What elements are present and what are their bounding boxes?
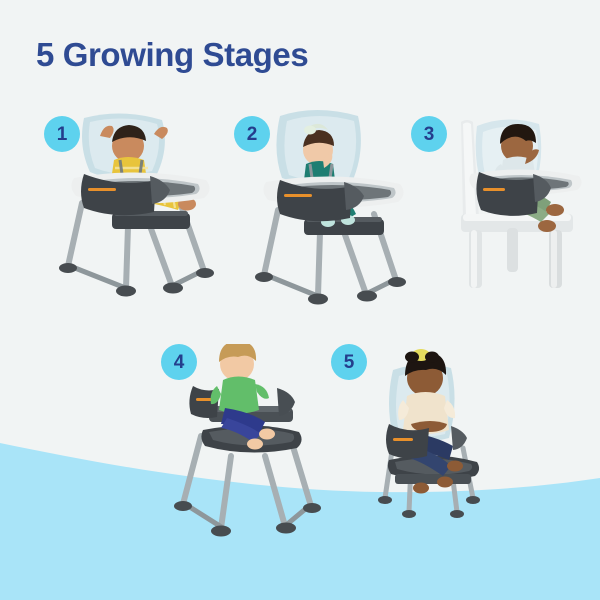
stage-image-4 [173,344,333,544]
stage-image-5 [359,348,519,548]
stage-card-2: 2 [234,116,414,306]
stage-badge-2: 2 [234,116,270,152]
stage-card-4: 4 [161,344,341,544]
stage-alt-2: Baby sitting upright in high chair with … [234,116,235,117]
stage-badge-5: 5 [331,344,367,380]
page-title: 5 Growing Stages [36,36,308,74]
stage-badge-3: 3 [411,116,447,152]
stage-alt-1: Infant reclined in high chair with tray [44,116,45,117]
stage-card-1: 1 [44,116,224,306]
stage-alt-3: Toddler in booster seat on a white dinin… [411,116,412,117]
stage-alt-4: Toddler seated on tall youth stool [161,344,162,345]
stage-card-3: 3 [411,116,591,306]
stage-badge-4: 4 [161,344,197,380]
stage-badge-1: 1 [44,116,80,152]
stage-image-2 [248,110,428,310]
stage-alt-5: Child seated in low toddler chair [331,344,332,345]
stage-image-3 [455,110,595,300]
stage-image-1 [54,108,234,303]
stage-card-5: 5 [331,344,511,544]
growing-stages-infographic: 5 Growing Stages 1 [0,0,600,600]
